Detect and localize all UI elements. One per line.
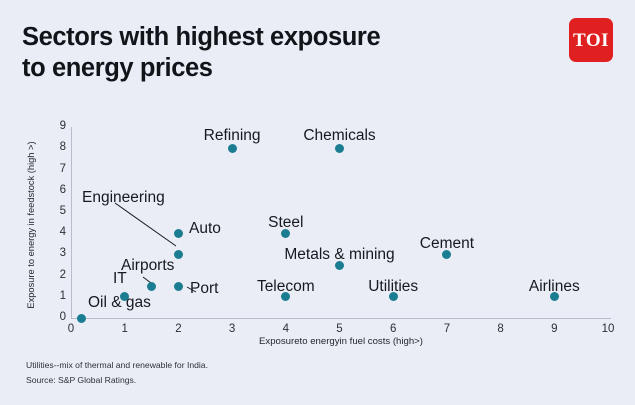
x-tick-label: 8 (486, 324, 516, 336)
page-title: Sectors with highest exposure to energy … (22, 22, 522, 84)
toi-logo: TOI (569, 18, 613, 62)
data-point (550, 292, 559, 301)
y-tick-label: 7 (50, 164, 66, 176)
y-axis-line (71, 127, 72, 318)
x-tick-label: 5 (325, 324, 355, 336)
data-point (389, 292, 398, 301)
leader-line (187, 287, 196, 292)
footnote-utilities: Utilities--mix of thermal and renewable … (26, 358, 208, 373)
data-point-label: Steel (268, 215, 303, 231)
y-tick-label: 2 (50, 270, 66, 282)
x-axis-line (71, 318, 611, 319)
header: Sectors with highest exposure to energy … (22, 22, 613, 92)
data-point (174, 229, 183, 238)
data-point-label: Oil & gas (88, 295, 151, 311)
data-point-label: Telecom (257, 279, 315, 295)
x-tick-label: 7 (432, 324, 462, 336)
x-tick-label: 6 (378, 324, 408, 336)
data-point-label: Chemicals (303, 128, 375, 144)
data-point-label: Cement (420, 236, 474, 252)
data-point-label: Airports (121, 258, 174, 274)
data-point-label: Airlines (529, 279, 580, 295)
x-tick-label: 4 (271, 324, 301, 336)
x-tick-label: 1 (110, 324, 140, 336)
data-point-label: Port (190, 281, 218, 297)
data-point (335, 144, 344, 153)
x-tick-label: 9 (539, 324, 569, 336)
data-point (120, 292, 129, 301)
data-point (442, 250, 451, 259)
data-point-label: Engineering (82, 190, 165, 206)
leader-line (115, 203, 176, 246)
data-point (174, 250, 183, 259)
data-point-label: Utilities (368, 279, 418, 295)
y-tick-label: 8 (50, 142, 66, 154)
data-point-label: IT (113, 271, 127, 287)
footnote-source: Source: S&P Global Ratings. (26, 373, 208, 388)
y-tick-label: 6 (50, 185, 66, 197)
y-tick-label: 3 (50, 248, 66, 260)
data-point (228, 144, 237, 153)
y-axis-title: Exposure to energy in feedstock (high >) (24, 125, 38, 325)
y-tick-label: 1 (50, 291, 66, 303)
data-point-label: Refining (204, 128, 261, 144)
toi-logo-text: TOI (573, 31, 609, 50)
data-point-label: Auto (189, 221, 221, 237)
data-point (147, 282, 156, 291)
x-tick-label: 2 (163, 324, 193, 336)
data-point (335, 261, 344, 270)
y-tick-label: 5 (50, 206, 66, 218)
data-point-label: Metals & mining (284, 247, 394, 263)
leader-line (143, 277, 155, 286)
x-axis-title: Exposureto energyin fuel costs (high>) (71, 336, 611, 347)
y-tick-label: 0 (50, 312, 66, 324)
x-tick-label: 3 (217, 324, 247, 336)
data-point (281, 292, 290, 301)
infographic-page: Sectors with highest exposure to energy … (0, 0, 635, 405)
y-tick-label: 9 (50, 121, 66, 133)
y-axis-title-text: Exposure to energy in feedstock (high >) (26, 141, 36, 308)
x-tick-label: 0 (56, 324, 86, 336)
data-point (281, 229, 290, 238)
footnotes: Utilities--mix of thermal and renewable … (26, 358, 208, 388)
x-tick-label: 10 (593, 324, 623, 336)
y-tick-label: 4 (50, 227, 66, 239)
data-point (77, 314, 86, 323)
data-point (174, 282, 183, 291)
